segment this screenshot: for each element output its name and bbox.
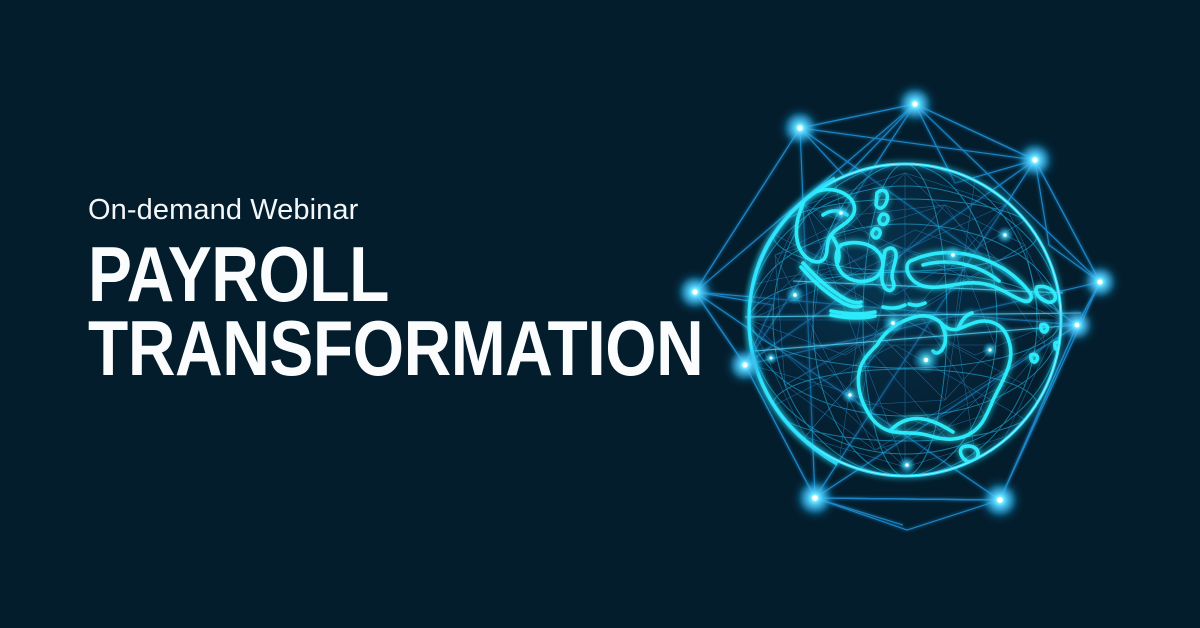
page-title-line-1: PAYROLL: [88, 239, 595, 309]
webinar-promo-banner: On-demand Webinar PAYROLL TRANSFORMATION: [0, 0, 1200, 628]
headline-text-block: On-demand Webinar PAYROLL TRANSFORMATION: [88, 196, 688, 383]
wireframe-globe-network-graphic: [645, 55, 1165, 575]
page-title-line-2: TRANSFORMATION: [88, 313, 595, 383]
eyebrow-label: On-demand Webinar: [88, 196, 688, 225]
